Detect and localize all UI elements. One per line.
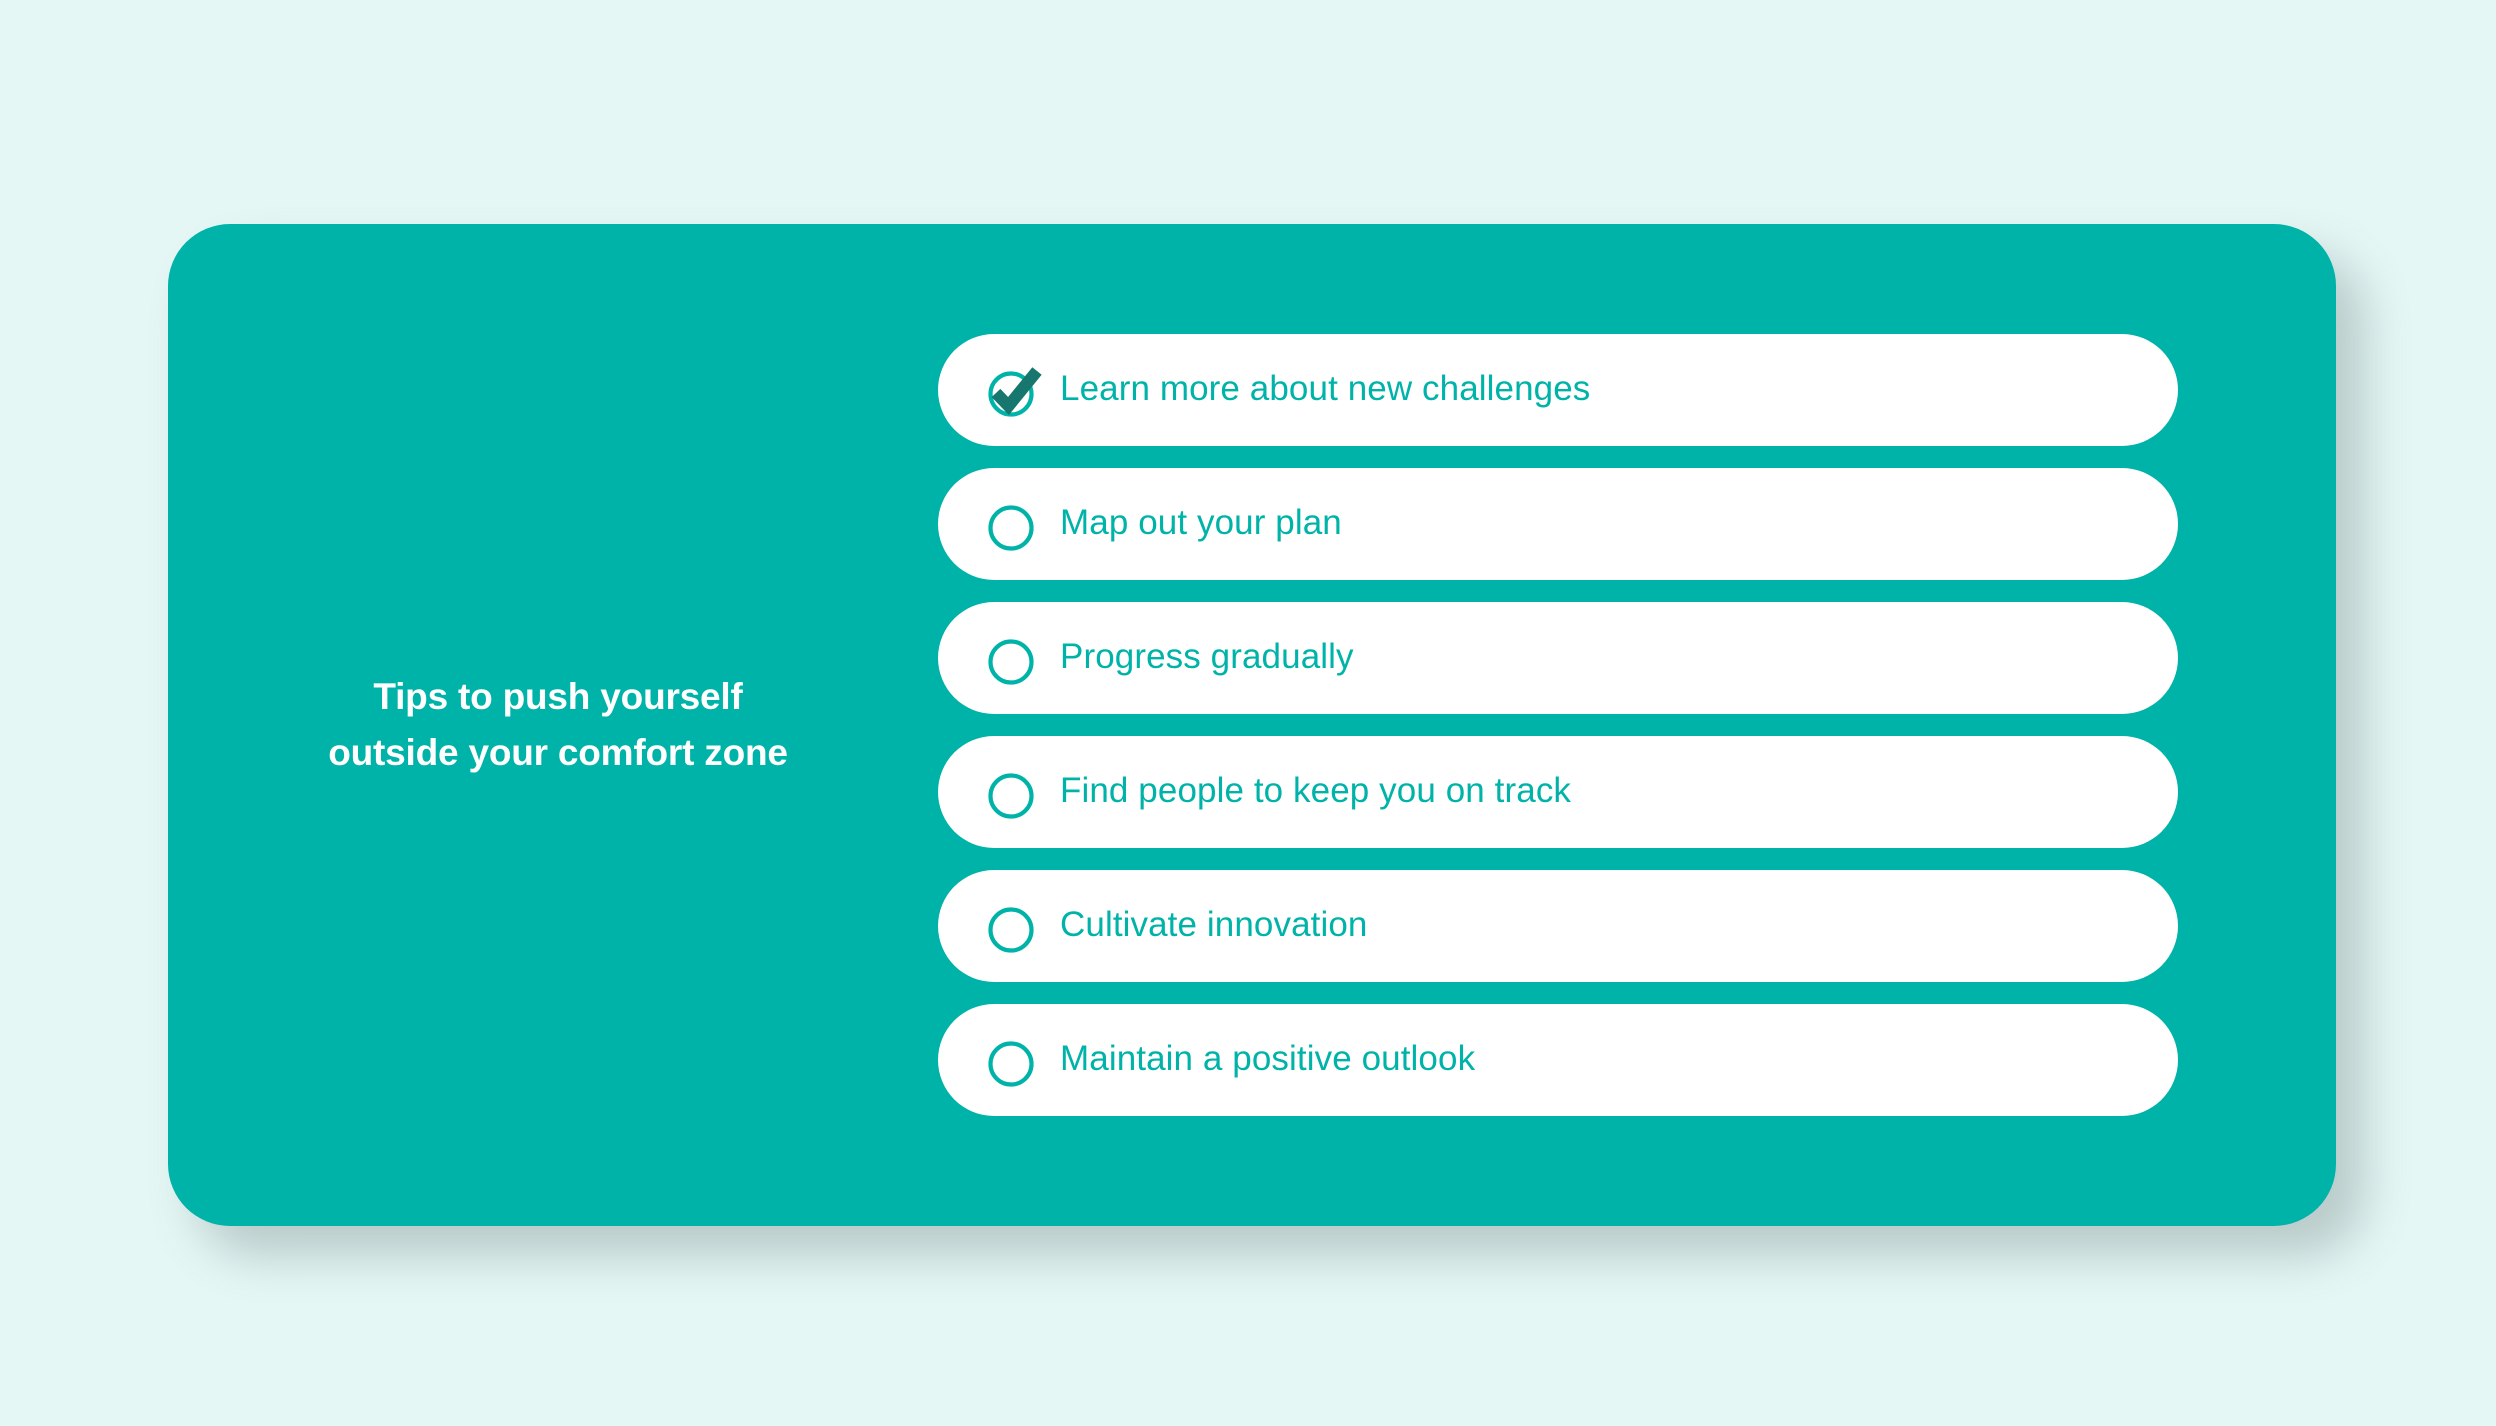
empty-circle-icon[interactable] (988, 496, 1044, 552)
checklist-item-label: Map out your plan (1060, 505, 1342, 543)
checklist-item-label: Learn more about new challenges (1060, 371, 1590, 409)
checklist-item[interactable]: Maintain a positive outlook (938, 1004, 2178, 1116)
canvas: Tips to push yourself outside your comfo… (0, 0, 2496, 1426)
tips-card: Tips to push yourself outside your comfo… (168, 224, 2336, 1226)
checklist: Learn more about new challenges Map out … (938, 334, 2336, 1116)
empty-circle-icon[interactable] (988, 898, 1044, 954)
empty-circle-icon[interactable] (988, 1032, 1044, 1088)
check-circle-icon[interactable] (988, 362, 1044, 418)
card-heading-column: Tips to push yourself outside your comfo… (168, 669, 938, 781)
checklist-item-label: Cultivate innovation (1060, 907, 1367, 945)
checklist-item-label: Progress gradually (1060, 639, 1354, 677)
empty-circle-icon[interactable] (988, 630, 1044, 686)
checklist-item-label: Find people to keep you on track (1060, 773, 1571, 811)
checklist-item[interactable]: Find people to keep you on track (938, 736, 2178, 848)
empty-circle-icon[interactable] (988, 764, 1044, 820)
checklist-item[interactable]: Cultivate innovation (938, 870, 2178, 982)
checklist-item[interactable]: Progress gradually (938, 602, 2178, 714)
checklist-item-label: Maintain a positive outlook (1060, 1041, 1475, 1079)
checklist-item[interactable]: Learn more about new challenges (938, 334, 2178, 446)
checklist-item[interactable]: Map out your plan (938, 468, 2178, 580)
card-title: Tips to push yourself outside your comfo… (318, 669, 798, 781)
